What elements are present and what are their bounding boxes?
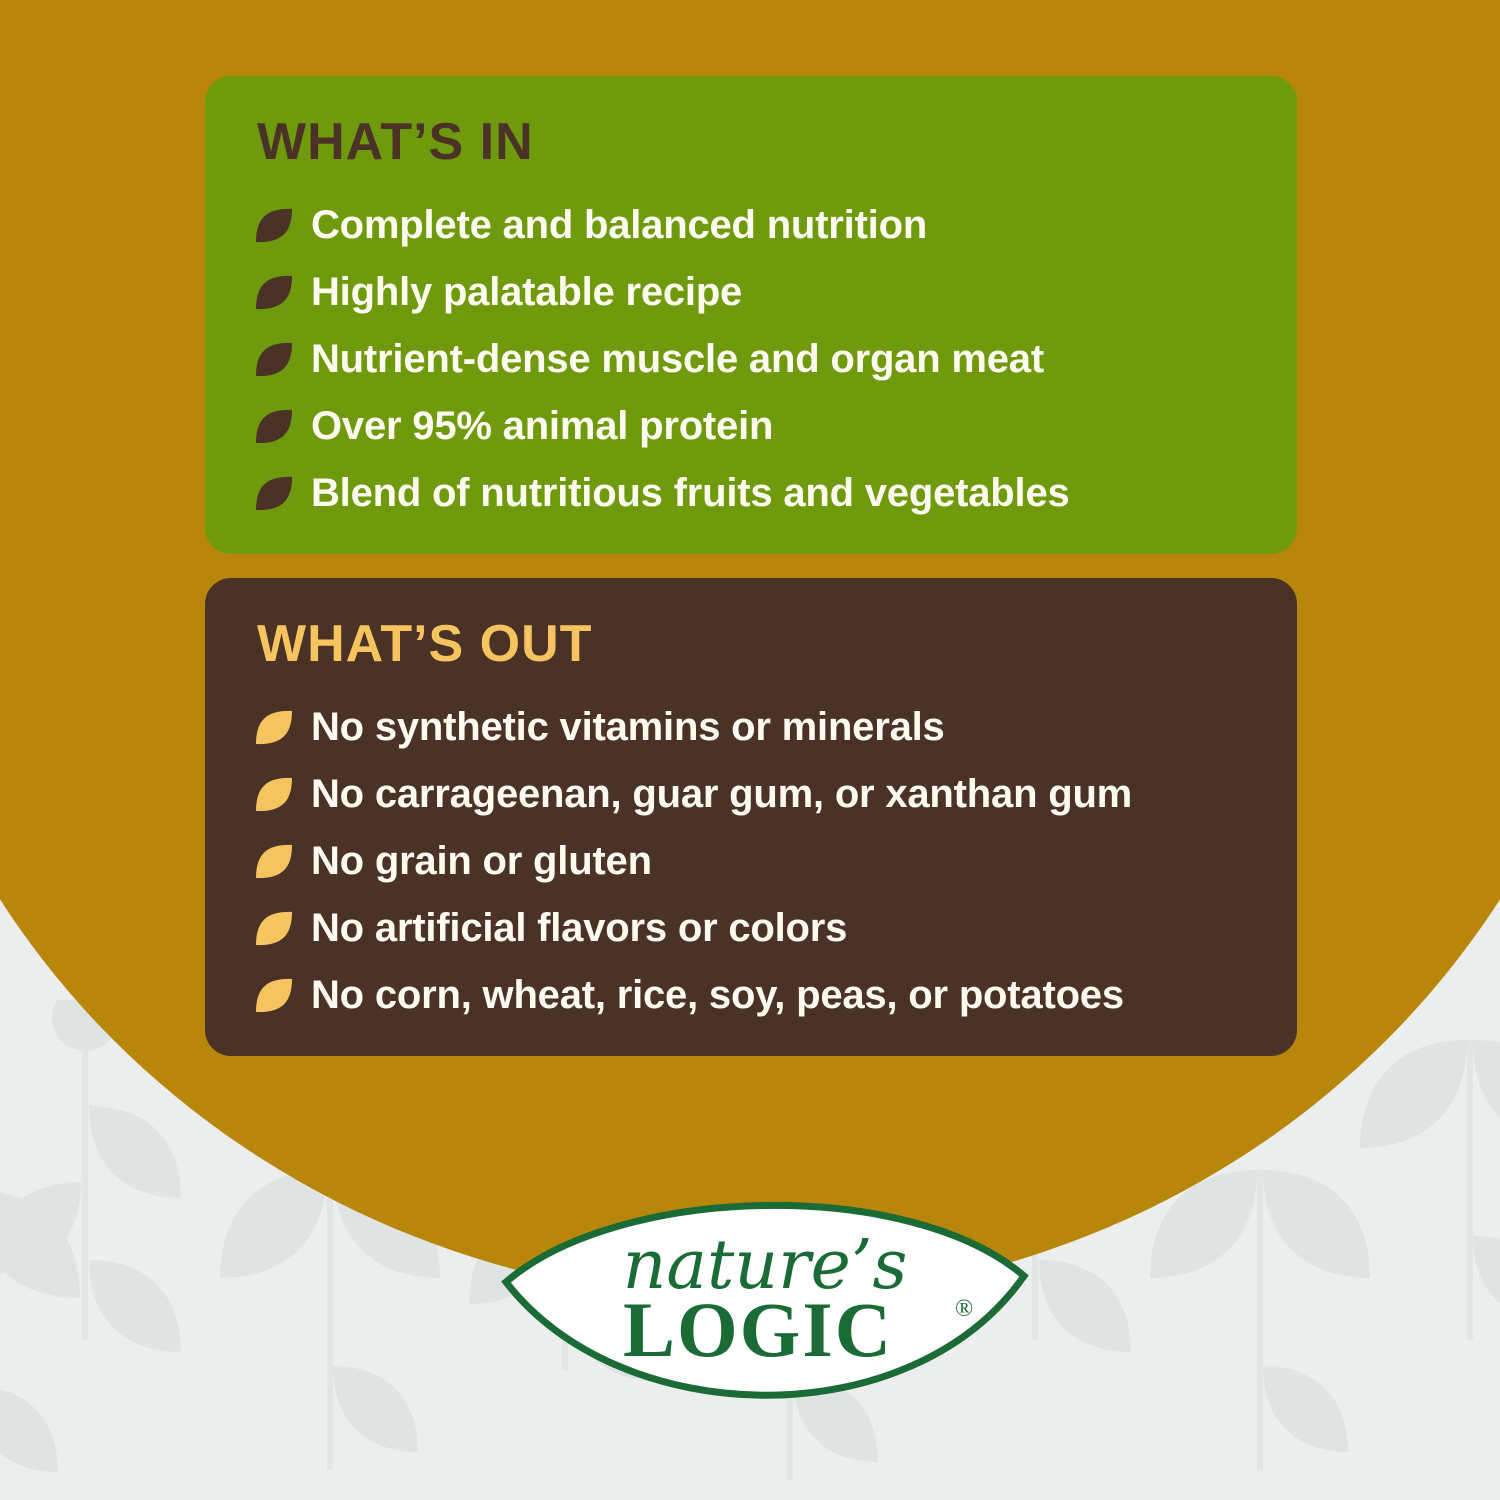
leaf-icon bbox=[253, 976, 295, 1016]
list-item-label: No carrageenan, guar gum, or xanthan gum bbox=[311, 772, 1132, 817]
whats-in-list: Complete and balanced nutrition Highly p… bbox=[253, 192, 1277, 527]
leaf-icon bbox=[253, 708, 295, 748]
list-item: No carrageenan, guar gum, or xanthan gum bbox=[253, 761, 1277, 828]
list-item-label: No corn, wheat, rice, soy, peas, or pota… bbox=[311, 973, 1124, 1018]
list-item: No grain or gluten bbox=[253, 828, 1277, 895]
list-item: Highly palatable recipe bbox=[253, 259, 1277, 326]
list-item: Blend of nutritious fruits and vegetable… bbox=[253, 460, 1277, 527]
whats-out-title: WHAT’S OUT bbox=[257, 614, 592, 674]
whats-in-title: WHAT’S IN bbox=[257, 112, 534, 172]
list-item-label: Over 95% animal protein bbox=[311, 404, 773, 449]
whats-out-list: No synthetic vitamins or minerals No car… bbox=[253, 694, 1277, 1029]
list-item-label: No artificial flavors or colors bbox=[311, 906, 847, 951]
brand-logo: nature’s LOGIC ® bbox=[500, 1190, 1030, 1435]
list-item: No synthetic vitamins or minerals bbox=[253, 694, 1277, 761]
list-item: Complete and balanced nutrition bbox=[253, 192, 1277, 259]
natures-logic-logo-svg: nature’s LOGIC ® bbox=[500, 1190, 1030, 1435]
leaf-icon bbox=[253, 407, 295, 447]
registered-mark-icon: ® bbox=[955, 1296, 973, 1322]
list-item-label: Blend of nutritious fruits and vegetable… bbox=[311, 471, 1070, 516]
poster-canvas: WHAT’S IN Complete and balanced nutritio… bbox=[0, 0, 1500, 1500]
whats-in-card: WHAT’S IN Complete and balanced nutritio… bbox=[205, 76, 1297, 554]
list-item-label: No grain or gluten bbox=[311, 839, 652, 884]
list-item-label: Nutrient-dense muscle and organ meat bbox=[311, 337, 1044, 382]
logo-serif-word: LOGIC bbox=[623, 1286, 893, 1373]
list-item: No artificial flavors or colors bbox=[253, 895, 1277, 962]
leaf-icon bbox=[253, 273, 295, 313]
leaf-icon bbox=[253, 206, 295, 246]
leaf-icon bbox=[253, 842, 295, 882]
leaf-icon bbox=[253, 775, 295, 815]
leaf-icon bbox=[253, 474, 295, 514]
leaf-icon bbox=[253, 909, 295, 949]
leaf-icon bbox=[253, 340, 295, 380]
list-item: Nutrient-dense muscle and organ meat bbox=[253, 326, 1277, 393]
whats-out-card: WHAT’S OUT No synthetic vitamins or mine… bbox=[205, 578, 1297, 1056]
list-item-label: Complete and balanced nutrition bbox=[311, 203, 927, 248]
list-item: Over 95% animal protein bbox=[253, 393, 1277, 460]
list-item-label: Highly palatable recipe bbox=[311, 270, 742, 315]
list-item-label: No synthetic vitamins or minerals bbox=[311, 705, 945, 750]
list-item: No corn, wheat, rice, soy, peas, or pota… bbox=[253, 962, 1277, 1029]
